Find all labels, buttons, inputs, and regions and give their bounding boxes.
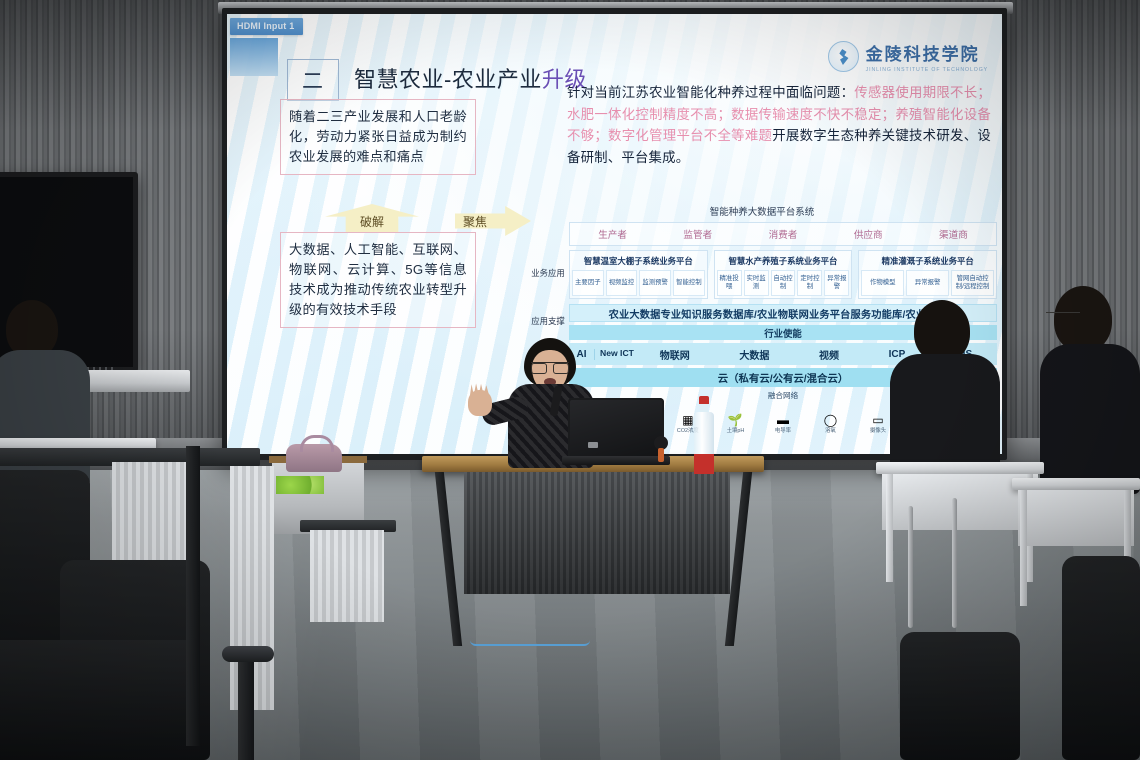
bottle-body bbox=[694, 412, 714, 470]
tech-item: 大数据 bbox=[739, 347, 769, 362]
institution-logo: 金陵科技学院 JINLING INSTITUTE OF TECHNOLOGY bbox=[828, 40, 988, 73]
subplatform-cell: 监测预警 bbox=[639, 270, 671, 296]
slide-title: 智慧农业-农业产业升级 bbox=[354, 62, 587, 94]
logo-name-cn: 金陵科技学院 bbox=[866, 40, 988, 65]
laptop-lid bbox=[568, 398, 664, 458]
side-desk-panel bbox=[310, 530, 384, 622]
desk-modesty-panel bbox=[464, 472, 730, 594]
subplatform-greenhouse: 智慧温室大棚子系统业务平台 主要因子 视频监控 监测预警 智能控制 bbox=[569, 250, 708, 299]
foreground-chair-post bbox=[238, 652, 254, 760]
presentation-slide[interactable]: HDMI Input 1 二 智慧农业-农业产业升级 金陵科技学院 JINLIN… bbox=[227, 14, 1002, 454]
subplatform-cell: 管网自动控制/远程控制 bbox=[951, 270, 994, 296]
desk-front-panel bbox=[1018, 490, 1134, 546]
desk-leg bbox=[1020, 490, 1027, 606]
hdmi-badge-tail bbox=[230, 38, 278, 76]
foreground-chair-mid-right bbox=[900, 632, 1020, 760]
soil-icon: 🌱 bbox=[718, 412, 752, 427]
handbag bbox=[286, 444, 342, 472]
side-label-support: 应用支撑 bbox=[531, 316, 565, 327]
desk-leg bbox=[886, 474, 893, 582]
subplatform-cell: 自动控制 bbox=[771, 270, 796, 296]
bottle-label bbox=[694, 454, 714, 474]
left-text-box-1: 随着二三产业发展和人口老龄化，劳动力紧张日益成为制约农业发展的难点和痛点 bbox=[280, 99, 476, 175]
tech-item: 视频 bbox=[819, 347, 839, 362]
subplatform-cells: 主要因子 视频监控 监测预警 智能控制 bbox=[572, 270, 705, 296]
subplatform-cell: 异常报警 bbox=[906, 270, 949, 296]
hdmi-input-badge: HDMI Input 1 bbox=[230, 18, 303, 35]
arrow-right-label: 聚焦 bbox=[455, 213, 487, 230]
subplatform-cell: 作物模型 bbox=[861, 270, 904, 296]
subplatform-name: 精准灌溉子系统业务平台 bbox=[861, 253, 994, 270]
subplatform-row: 智慧温室大棚子系统业务平台 主要因子 视频监控 监测预警 智能控制 智慧水产养殖… bbox=[569, 250, 997, 299]
handheld-microphone bbox=[654, 436, 668, 462]
chair-rail bbox=[952, 498, 957, 628]
subplatform-cell: 智能控制 bbox=[673, 270, 705, 296]
diagram-title: 智能种养大数据平台系统 bbox=[527, 204, 997, 218]
role-item: 消费者 bbox=[740, 227, 825, 241]
side-label-business: 业务应用 bbox=[531, 268, 565, 279]
green-items bbox=[276, 476, 324, 494]
sensor-label: 溶氧 bbox=[814, 429, 848, 435]
subplatform-aquaculture: 智慧水产养殖子系统业务平台 精准投喂 实时监测 自动控制 定时控制 异常报警 bbox=[714, 250, 853, 299]
sensor-item: ▬ 电导率 bbox=[766, 412, 800, 435]
glasses-icon bbox=[1046, 312, 1080, 321]
subplatform-cell: 精准投喂 bbox=[717, 270, 742, 296]
oxygen-icon: ◯ bbox=[814, 412, 848, 427]
subplatform-cells: 精准投喂 实时监测 自动控制 定时控制 异常报警 bbox=[717, 270, 850, 296]
student-body bbox=[1040, 344, 1140, 494]
subplatform-cell: 异常报警 bbox=[824, 270, 849, 296]
subplatform-name: 智慧温室大棚子系统业务平台 bbox=[572, 253, 705, 270]
ec-icon: ▬ bbox=[766, 412, 800, 427]
arrow-up-breakthrough: 破解 bbox=[325, 204, 419, 232]
logo-emblem-icon bbox=[828, 41, 859, 72]
subplatform-cell: 主要因子 bbox=[572, 270, 604, 296]
subplatform-cells: 作物模型 异常报警 管网自动控制/远程控制 bbox=[861, 270, 994, 296]
student-head bbox=[914, 300, 970, 362]
desk-leg-left bbox=[435, 472, 462, 646]
subplatform-cell: 实时监测 bbox=[744, 270, 769, 296]
sensor-item: ◯ 溶氧 bbox=[814, 412, 848, 435]
slide-title-main: 智慧农业-农业产业 bbox=[354, 67, 542, 92]
logo-text: 金陵科技学院 JINLING INSTITUTE OF TECHNOLOGY bbox=[866, 40, 988, 73]
role-item: 监管者 bbox=[655, 227, 740, 241]
chair-rail bbox=[908, 506, 913, 628]
tech-item: 物联网 bbox=[660, 347, 690, 362]
foreground-armrest bbox=[222, 646, 274, 662]
sensor-item: 🌱 土壤pH bbox=[718, 412, 752, 435]
subplatform-cell: 视频监控 bbox=[606, 270, 638, 296]
lectern-desk bbox=[422, 456, 764, 646]
subplatform-name: 智慧水产养殖子系统业务平台 bbox=[717, 253, 850, 270]
left-text-box-2: 大数据、人工智能、互联网、物联网、云计算、5G等信息技术成为推动传统农业转型升级… bbox=[280, 232, 476, 328]
microphone-body bbox=[658, 448, 664, 462]
arrow-up-label: 破解 bbox=[360, 213, 384, 232]
right-paragraph-part1: 针对当前江苏农业智能化种养过程中面临问题： bbox=[567, 85, 854, 100]
floor-cable bbox=[470, 640, 590, 646]
glasses-icon bbox=[531, 362, 569, 371]
logo-name-en: JINLING INSTITUTE OF TECHNOLOGY bbox=[866, 67, 988, 73]
sensor-label: 土壤pH bbox=[718, 429, 752, 435]
laptop-sticker bbox=[588, 442, 598, 448]
roles-row: 生产者 监管者 消费者 供应商 渠道商 bbox=[569, 222, 997, 246]
foreground-post bbox=[186, 446, 200, 746]
sensor-label: 电导率 bbox=[766, 429, 800, 435]
role-item: 供应商 bbox=[826, 227, 911, 241]
role-item: 生产者 bbox=[570, 227, 655, 241]
subplatform-cell: 定时控制 bbox=[797, 270, 822, 296]
water-bottle bbox=[694, 396, 714, 470]
section-number: 二 bbox=[287, 59, 339, 101]
classroom-scene: HDMI Input 1 二 智慧农业-农业产业升级 金陵科技学院 JINLIN… bbox=[0, 0, 1140, 760]
presenter-hand bbox=[468, 390, 492, 416]
bottle-cap bbox=[699, 396, 709, 404]
subplatform-irrigation: 精准灌溉子系统业务平台 作物模型 异常报警 管网自动控制/远程控制 bbox=[858, 250, 997, 299]
role-item: 渠道商 bbox=[911, 227, 996, 241]
foreground-chair-bottom-left bbox=[0, 640, 200, 760]
foreground-chair-right bbox=[1062, 556, 1140, 760]
desk-top bbox=[1012, 478, 1140, 490]
desk-top bbox=[876, 462, 1044, 474]
right-paragraph: 针对当前江苏农业智能化种养过程中面临问题：传感器使用期限不长；水肥一体化控制精度… bbox=[567, 82, 991, 169]
